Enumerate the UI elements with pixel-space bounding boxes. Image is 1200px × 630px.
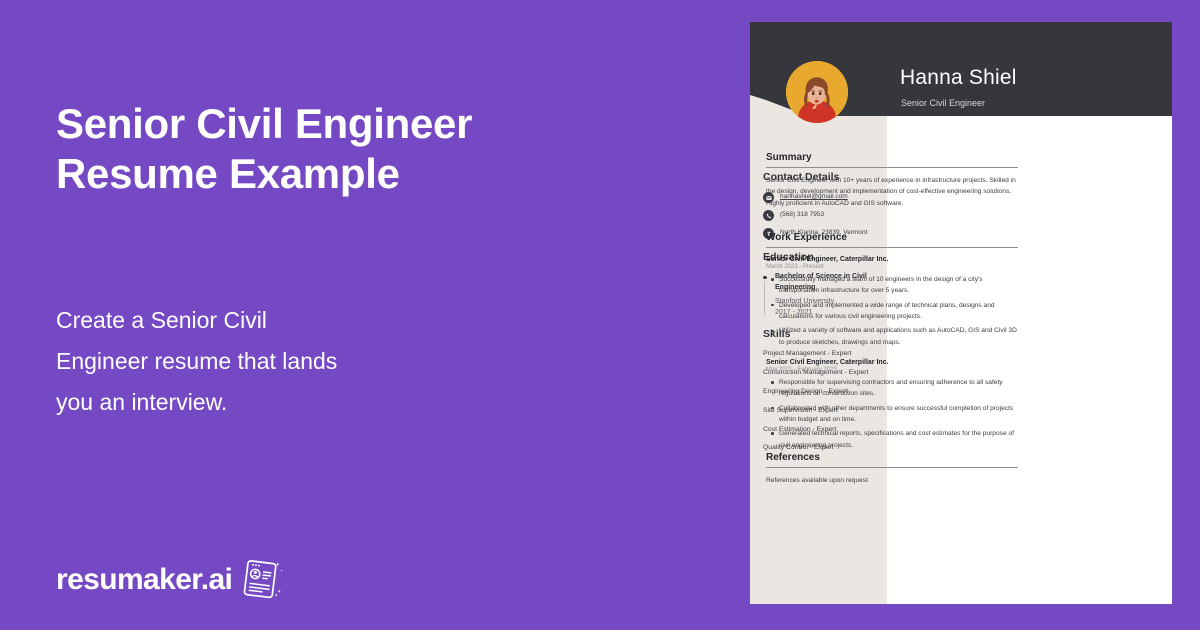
page-title: Senior Civil Engineer Resume Example [56, 99, 656, 199]
page-subtitle: Create a Senior Civil Engineer resume th… [56, 300, 476, 423]
job-bullet-list: Successfully managed a team of 10 engine… [766, 274, 1018, 348]
page-title-line2: Resume Example [56, 149, 656, 199]
page-title-line1: Senior Civil Engineer [56, 99, 656, 149]
references-text: References available upon request [766, 475, 1018, 486]
job-bullet: Developed and implemented a wide range o… [766, 300, 1018, 323]
job-bullet: Generated technical reports, specificati… [766, 428, 1018, 451]
job-title: Senior Civil Engineer, Caterpillar Inc. [766, 359, 1018, 366]
resume-preview-card[interactable]: Hanna Shiel Senior Civil Engineer Contac… [750, 22, 1172, 604]
resume-role: Senior Civil Engineer [901, 98, 985, 108]
work-experience-heading: Work Experience [766, 232, 1018, 248]
resume-document-icon [233, 554, 285, 606]
resumaker-logo[interactable]: resumaker.ai [56, 554, 285, 606]
summary-section: Summary Senior Civil Engineer with 10+ y… [766, 152, 1018, 209]
page-subtitle-line2: Engineer resume that lands [56, 341, 476, 382]
logo-wordmark: resumaker.ai [56, 563, 232, 597]
job-bullet: Successfully managed a team of 10 engine… [766, 274, 1018, 297]
job-date: March 2023 - Present [766, 264, 1018, 270]
job-entry: Senior Civil Engineer, Caterpillar Inc. … [766, 256, 1018, 348]
resume-name: Hanna Shiel [900, 66, 1017, 90]
job-bullet: Utilized a variety of software and appli… [766, 325, 1018, 348]
avatar [786, 61, 848, 123]
promo-panel: Senior Civil Engineer Resume Example Cre… [0, 0, 750, 630]
phone-icon [763, 210, 774, 221]
references-section: References References available upon req… [766, 452, 1018, 486]
contact-row-phone[interactable]: (568) 318 7953 [763, 210, 883, 221]
page-subtitle-line1: Create a Senior Civil [56, 300, 476, 341]
work-experience-section: Work Experience Senior Civil Engineer, C… [766, 232, 1018, 454]
job-entry: Senior Civil Engineer, Caterpillar Inc. … [766, 359, 1018, 451]
job-title: Senior Civil Engineer, Caterpillar Inc. [766, 256, 1018, 263]
summary-text: Senior Civil Engineer with 10+ years of … [766, 175, 1018, 209]
references-heading: References [766, 452, 1018, 468]
job-bullet: Collaborated with other departments to e… [766, 403, 1018, 426]
job-date: May 2021 - February 2023 [766, 367, 1018, 373]
summary-heading: Summary [766, 152, 1018, 168]
job-bullet: Responsible for supervising contractors … [766, 377, 1018, 400]
job-bullet-list: Responsible for supervising contractors … [766, 377, 1018, 451]
contact-phone: (568) 318 7953 [780, 210, 824, 221]
page-subtitle-line3: you an interview. [56, 382, 476, 423]
